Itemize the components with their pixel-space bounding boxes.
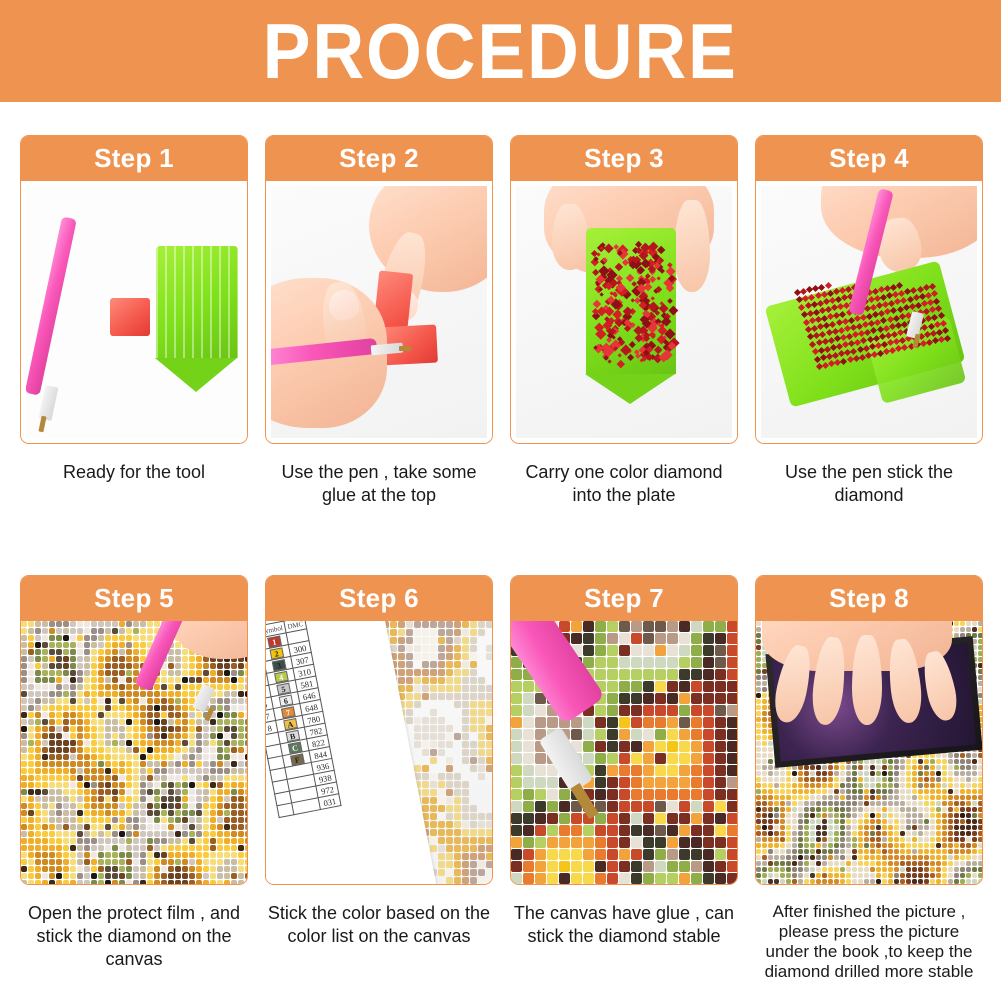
mosaic-bead (924, 795, 929, 800)
mosaic-bead (960, 777, 965, 782)
mosaic-bead (126, 796, 132, 802)
procedure-infographic: PROCEDURE Step 1 (0, 0, 1001, 1001)
mosaic-bead (470, 637, 477, 644)
mosaic-bead (816, 771, 821, 776)
mosaic-bead (486, 749, 492, 756)
mosaic-bead (954, 825, 959, 830)
mosaic-bead (876, 783, 881, 788)
mosaic-bead (119, 733, 125, 739)
mosaic-bead (715, 801, 726, 812)
mosaic-bead (91, 824, 97, 830)
mosaic-bead (960, 819, 965, 824)
mosaic-bead (446, 805, 453, 812)
mosaic-bead (28, 782, 34, 788)
mosaic-bead (607, 621, 618, 632)
mosaic-bead (511, 861, 522, 872)
mosaic-bead (978, 795, 982, 800)
mosaic-bead (189, 663, 195, 669)
mosaic-bead (486, 733, 492, 740)
mosaic-bead (35, 642, 41, 648)
mosaic-bead (91, 698, 97, 704)
mosaic-bead (154, 754, 160, 760)
mosaic-bead (77, 621, 83, 627)
mosaic-bead (583, 633, 594, 644)
mosaic-bead (583, 873, 594, 884)
mosaic-bead (56, 628, 62, 634)
mosaic-bead (870, 825, 875, 830)
mosaic-bead (28, 621, 34, 627)
mosaic-bead (203, 796, 209, 802)
mosaic-bead (438, 757, 445, 764)
mosaic-bead (49, 656, 55, 662)
mosaic-bead (63, 691, 69, 697)
mosaic-bead (224, 810, 230, 816)
mosaic-bead (954, 783, 959, 788)
mosaic-bead (84, 635, 90, 641)
mosaic-bead (70, 691, 76, 697)
mosaic-bead (422, 645, 429, 652)
mosaic-bead (42, 663, 48, 669)
mosaic-bead (238, 880, 244, 884)
mosaic-bead (245, 705, 247, 711)
mosaic-bead (42, 810, 48, 816)
mosaic-bead (930, 759, 935, 764)
mosaic-bead (978, 645, 982, 650)
mosaic-bead (852, 825, 857, 830)
mosaic-bead (438, 669, 445, 676)
mosaic-bead (438, 693, 445, 700)
mosaic-bead (446, 773, 453, 780)
mosaic-bead (422, 709, 429, 716)
mosaic-bead (70, 824, 76, 830)
mosaic-bead (786, 789, 791, 794)
mosaic-bead (948, 789, 953, 794)
mosaic-bead (523, 849, 534, 860)
mosaic-bead (98, 754, 104, 760)
mosaic-bead (930, 765, 935, 770)
mosaic-bead (245, 810, 247, 816)
mosaic-bead (21, 649, 27, 655)
mosaic-bead (430, 845, 437, 852)
mosaic-bead (414, 661, 421, 668)
mosaic-bead (583, 729, 594, 740)
mosaic-bead (834, 771, 839, 776)
mosaic-bead (888, 849, 893, 854)
mosaic-bead (870, 819, 875, 824)
mosaic-bead (56, 873, 62, 879)
mosaic-bead (667, 681, 678, 692)
mosaic-bead (91, 677, 97, 683)
mosaic-bead (978, 753, 982, 758)
mosaic-bead (942, 753, 947, 758)
step-photo-inner-6: No. Symbol DMC 1122300333074431055581666… (266, 621, 492, 884)
mosaic-bead (876, 759, 881, 764)
mosaic-bead (77, 859, 83, 865)
mosaic-bead (245, 852, 247, 858)
mosaic-bead (112, 656, 118, 662)
mosaic-bead (715, 657, 726, 668)
mosaic-bead (91, 719, 97, 725)
mosaic-bead (667, 657, 678, 668)
mosaic-bead (834, 795, 839, 800)
mosaic-bead (133, 649, 139, 655)
mosaic-bead (105, 824, 111, 830)
mosaic-bead (42, 747, 48, 753)
mosaic-bead (28, 873, 34, 879)
mosaic-bead (703, 801, 714, 812)
mosaic-bead (888, 801, 893, 806)
mosaic-bead (679, 705, 690, 716)
mosaic-bead (816, 801, 821, 806)
mosaic-bead (422, 789, 429, 796)
mosaic-bead (762, 813, 767, 818)
mosaic-bead (105, 873, 111, 879)
mosaic-bead (840, 831, 845, 836)
mosaic-bead (430, 621, 437, 628)
mosaic-bead (792, 777, 797, 782)
mosaic-bead (175, 852, 181, 858)
mosaic-bead (446, 797, 453, 804)
mosaic-bead (182, 866, 188, 872)
mosaic-bead (35, 705, 41, 711)
mosaic-bead (768, 807, 773, 812)
mosaic-bead (112, 642, 118, 648)
mosaic-bead (56, 663, 62, 669)
mosaic-bead (203, 803, 209, 809)
mosaic-bead (595, 741, 606, 752)
mosaic-bead (643, 765, 654, 776)
mosaic-bead (691, 789, 702, 800)
mosaic-bead (42, 803, 48, 809)
mosaic-bead (154, 726, 160, 732)
mosaic-bead (231, 775, 237, 781)
mosaic-bead (224, 775, 230, 781)
mosaic-bead (894, 771, 899, 776)
mosaic-bead (430, 653, 437, 660)
mosaic-bead (870, 789, 875, 794)
mosaic-bead (63, 803, 69, 809)
mosaic-bead (478, 797, 485, 804)
mosaic-bead (888, 813, 893, 818)
mosaic-bead (756, 651, 761, 656)
mosaic-bead (49, 845, 55, 851)
mosaic-bead (912, 771, 917, 776)
mosaic-bead (679, 669, 690, 680)
mosaic-bead (161, 845, 167, 851)
mosaic-bead (189, 852, 195, 858)
mosaic-bead (245, 838, 247, 844)
mosaic-bead (91, 726, 97, 732)
mosaic-bead (238, 677, 244, 683)
mosaic-bead (224, 852, 230, 858)
mosaic-bead (936, 819, 941, 824)
mosaic-bead (954, 837, 959, 842)
mosaic-bead (196, 663, 202, 669)
mosaic-bead (454, 765, 461, 772)
mosaic-bead (70, 670, 76, 676)
mosaic-bead (667, 669, 678, 680)
mosaic-bead (936, 837, 941, 842)
mosaic-bead (643, 813, 654, 824)
mosaic-bead (21, 670, 27, 676)
mosaic-bead (28, 740, 34, 746)
mosaic-bead (168, 726, 174, 732)
mosaic-bead (535, 837, 546, 848)
mosaic-bead (667, 621, 678, 632)
mosaic-bead (161, 691, 167, 697)
mosaic-bead (470, 837, 477, 844)
mosaic-bead (168, 677, 174, 683)
mosaic-bead (217, 691, 223, 697)
mosaic-bead (175, 691, 181, 697)
mosaic-bead (888, 765, 893, 770)
mosaic-bead (846, 843, 851, 848)
mosaic-bead (679, 861, 690, 872)
mosaic-bead (478, 653, 485, 660)
mosaic-bead (966, 765, 971, 770)
mosaic-bead (547, 873, 558, 884)
mosaic-bead (91, 705, 97, 711)
mosaic-bead (864, 777, 869, 782)
mosaic-bead (147, 621, 153, 627)
mosaic-bead (804, 825, 809, 830)
mosaic-bead (438, 749, 445, 756)
step-photo-inner-8 (756, 621, 982, 884)
mosaic-bead (864, 849, 869, 854)
mosaic-bead (147, 831, 153, 837)
mosaic-bead (140, 845, 146, 851)
mosaic-bead (631, 681, 642, 692)
mosaic-bead (175, 754, 181, 760)
mosaic-bead (912, 759, 917, 764)
mosaic-bead (189, 873, 195, 879)
mosaic-bead (756, 747, 761, 752)
mosaic-bead (438, 677, 445, 684)
mosaic-bead (91, 628, 97, 634)
mosaic-bead (182, 747, 188, 753)
mosaic-bead (822, 807, 827, 812)
mosaic-bead (430, 677, 437, 684)
mosaic-bead (119, 726, 125, 732)
mosaic-bead (691, 765, 702, 776)
mosaic-bead (523, 741, 534, 752)
mosaic-bead (70, 719, 76, 725)
mosaic-bead (960, 807, 965, 812)
mosaic-bead (762, 807, 767, 812)
mosaic-bead (35, 852, 41, 858)
mosaic-bead (972, 783, 977, 788)
mosaic-bead (217, 817, 223, 823)
mosaic-bead (154, 705, 160, 711)
mosaic-bead (119, 803, 125, 809)
mosaic-bead (175, 761, 181, 767)
mosaic-bead (147, 733, 153, 739)
mosaic-bead (98, 852, 104, 858)
mosaic-bead (133, 754, 139, 760)
mosaic-bead (912, 777, 917, 782)
mosaic-bead (56, 796, 62, 802)
mosaic-bead (595, 873, 606, 884)
mosaic-bead (210, 817, 216, 823)
mosaic-bead (894, 759, 899, 764)
step-photo-inner-7 (511, 621, 737, 884)
mosaic-bead (768, 795, 773, 800)
mosaic-bead (140, 635, 146, 641)
mosaic-bead (679, 837, 690, 848)
mosaic-bead (834, 825, 839, 830)
mosaic-bead (175, 810, 181, 816)
mosaic-bead (978, 687, 982, 692)
mosaic-bead (70, 880, 76, 884)
mosaic-bead (655, 789, 666, 800)
mosaic-bead (245, 691, 247, 697)
mosaic-bead (667, 849, 678, 860)
mosaic-bead (774, 843, 779, 848)
mosaic-bead (918, 819, 923, 824)
step-photo-2 (266, 181, 492, 443)
mosaic-bead (217, 719, 223, 725)
mosaic-bead (126, 712, 132, 718)
mosaic-bead (196, 852, 202, 858)
mosaic-bead (888, 825, 893, 830)
mosaic-bead (679, 693, 690, 704)
mosaic-bead (84, 628, 90, 634)
mosaic-bead (217, 831, 223, 837)
mosaic-bead (98, 649, 104, 655)
mosaic-bead (900, 795, 905, 800)
mosaic-bead (631, 873, 642, 884)
mosaic-bead (63, 768, 69, 774)
mosaic-bead (478, 661, 485, 668)
mosaic-bead (238, 761, 244, 767)
mosaic-bead (42, 705, 48, 711)
mosaic-bead (619, 621, 630, 632)
mosaic-bead (715, 825, 726, 836)
mosaic-bead (924, 789, 929, 794)
mosaic-bead (133, 789, 139, 795)
mosaic-bead (966, 753, 971, 758)
mosaic-bead (822, 771, 827, 776)
mosaic-bead (35, 782, 41, 788)
mosaic-bead (224, 684, 230, 690)
mosaic-bead (900, 825, 905, 830)
mosaic-bead (422, 653, 429, 660)
mosaic-bead (42, 859, 48, 865)
mosaic-bead (119, 782, 125, 788)
mosaic-bead (49, 719, 55, 725)
mosaic-bead (112, 873, 118, 879)
mosaic-bead (454, 629, 461, 636)
mosaic-bead (643, 705, 654, 716)
mosaic-bead (888, 819, 893, 824)
mosaic-bead (454, 869, 461, 876)
mosaic-bead (774, 807, 779, 812)
mosaic-bead (84, 768, 90, 774)
mosaic-bead (63, 810, 69, 816)
mosaic-bead (217, 754, 223, 760)
mosaic-bead (619, 693, 630, 704)
mosaic-bead (70, 775, 76, 781)
mosaic-bead (231, 789, 237, 795)
mosaic-bead (189, 866, 195, 872)
mosaic-bead (203, 670, 209, 676)
mosaic-bead (655, 633, 666, 644)
mosaic-bead (858, 789, 863, 794)
mosaic-bead (438, 773, 445, 780)
mosaic-bead (768, 825, 773, 830)
mosaic-bead (446, 765, 453, 772)
mosaic-bead (21, 775, 27, 781)
mosaic-bead (523, 837, 534, 848)
mosaic-bead (438, 661, 445, 668)
mosaic-bead (105, 789, 111, 795)
mosaic-bead (655, 801, 666, 812)
mosaic-bead (478, 749, 485, 756)
mosaic-bead (224, 733, 230, 739)
mosaic-bead (210, 859, 216, 865)
mosaic-bead (133, 726, 139, 732)
mosaic-bead (822, 819, 827, 824)
mosaic-bead (175, 740, 181, 746)
mosaic-bead (715, 681, 726, 692)
mosaic-bead (203, 726, 209, 732)
mosaic-bead (798, 837, 803, 842)
mosaic-bead (978, 783, 982, 788)
mosaic-bead (924, 837, 929, 842)
mosaic-bead (196, 831, 202, 837)
mosaic-bead (727, 621, 737, 632)
mosaic-bead (936, 777, 941, 782)
mosaic-bead (175, 698, 181, 704)
mosaic-bead (978, 675, 982, 680)
mosaic-bead (804, 843, 809, 848)
mosaic-bead (112, 635, 118, 641)
step-tab-label-1: Step 1 (94, 143, 174, 174)
mosaic-bead (607, 777, 618, 788)
mosaic-bead (77, 642, 83, 648)
mosaic-bead (422, 797, 429, 804)
mosaic-bead (972, 819, 977, 824)
mosaic-bead (189, 768, 195, 774)
mosaic-bead (595, 777, 606, 788)
mosaic-bead (196, 726, 202, 732)
mosaic-bead (906, 831, 911, 836)
mosaic-bead (858, 831, 863, 836)
mosaic-bead (486, 797, 492, 804)
mosaic-bead (756, 777, 761, 782)
mosaic-bead (70, 803, 76, 809)
mosaic-bead (63, 684, 69, 690)
mosaic-bead (595, 729, 606, 740)
mosaic-bead (912, 783, 917, 788)
mosaic-bead (882, 831, 887, 836)
mosaic-bead (105, 880, 111, 884)
mosaic-bead (217, 747, 223, 753)
mosaic-bead (168, 656, 174, 662)
mosaic-bead (119, 621, 125, 627)
mosaic-bead (147, 726, 153, 732)
mosaic-bead (35, 838, 41, 844)
mosaic-bead (876, 795, 881, 800)
mosaic-bead (231, 831, 237, 837)
mosaic-bead (978, 843, 982, 848)
mosaic-bead (523, 717, 534, 728)
mosaic-bead (607, 729, 618, 740)
mosaic-bead (810, 819, 815, 824)
mosaic-bead (175, 873, 181, 879)
mosaic-bead (238, 733, 244, 739)
mosaic-bead (238, 719, 244, 725)
